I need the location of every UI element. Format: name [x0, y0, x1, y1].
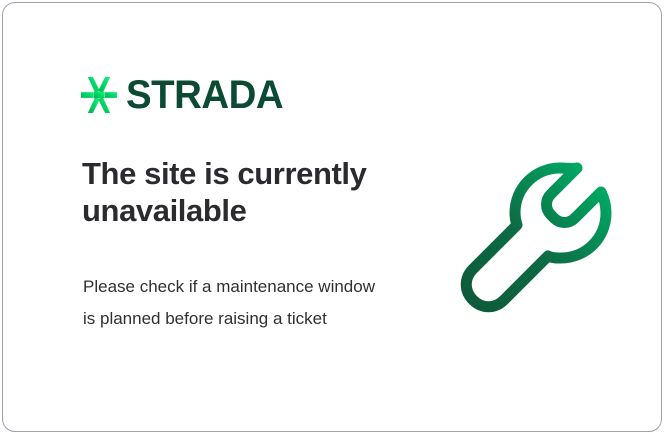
maintenance-notice-card: STRADA The site is currently unavailable…: [2, 2, 662, 432]
page-title: The site is currently unavailable: [82, 155, 412, 229]
wrench-icon: [455, 155, 621, 321]
strada-starburst-icon: [81, 77, 117, 113]
brand-lockup: STRADA: [81, 75, 290, 115]
brand-wordmark: STRADA: [126, 75, 283, 115]
page-description: Please check if a maintenance window is …: [83, 271, 388, 335]
